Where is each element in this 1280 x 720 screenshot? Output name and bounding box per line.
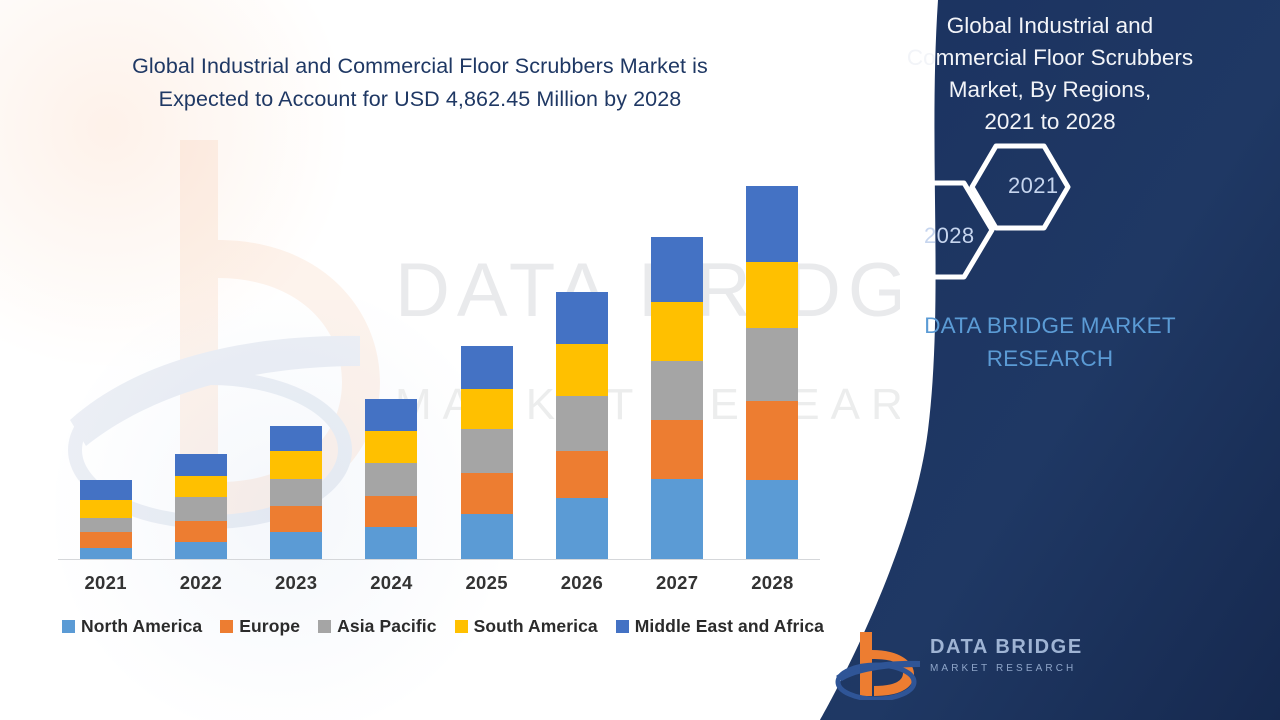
legend-label: Europe — [239, 616, 300, 637]
legend-label: Asia Pacific — [337, 616, 436, 637]
brand-name-line1: DATA BRIDGE MARKET — [850, 310, 1250, 343]
legend-swatch-icon — [62, 620, 75, 633]
bar-segment[interactable] — [175, 497, 227, 521]
x-axis-label-2022: 2022 — [153, 572, 249, 594]
x-axis-label-2028: 2028 — [724, 572, 820, 594]
bar-segment[interactable] — [365, 431, 417, 463]
bar-segment[interactable] — [80, 548, 132, 559]
x-axis-label-2023: 2023 — [248, 572, 344, 594]
legend-item-europe[interactable]: Europe — [220, 616, 300, 637]
x-axis-line — [58, 559, 820, 560]
bar-segment[interactable] — [651, 361, 703, 420]
x-axis-label-2021: 2021 — [58, 572, 154, 594]
legend-swatch-icon — [220, 620, 233, 633]
company-logo: DATA BRIDGE MARKET RESEARCH — [834, 628, 1064, 704]
year-hexagons: 2021 2028 — [860, 135, 1120, 285]
bar-segment[interactable] — [556, 451, 608, 498]
bar-segment[interactable] — [746, 328, 798, 401]
legend-label: North America — [81, 616, 202, 637]
bar-column-2026[interactable] — [556, 292, 608, 559]
x-axis-label-2024: 2024 — [343, 572, 439, 594]
legend-item-asia-pacific[interactable]: Asia Pacific — [318, 616, 436, 637]
bar-segment[interactable] — [365, 527, 417, 559]
chart-title-line1: Global Industrial and Commercial Floor S… — [70, 50, 770, 83]
bar-column-2021[interactable] — [80, 480, 132, 559]
panel-title: Global Industrial and Commercial Floor S… — [840, 10, 1260, 138]
data-bridge-logo-icon — [834, 628, 926, 700]
bar-segment[interactable] — [461, 389, 513, 429]
bar-segment[interactable] — [365, 463, 417, 496]
bar-segment[interactable] — [80, 532, 132, 548]
legend-label: South America — [474, 616, 598, 637]
panel-title-line2: Commercial Floor Scrubbers — [840, 42, 1260, 74]
bar-column-2028[interactable] — [746, 186, 798, 559]
chart-title-line2: Expected to Account for USD 4,862.45 Mil… — [70, 83, 770, 116]
bar-segment[interactable] — [556, 498, 608, 559]
legend-swatch-icon — [616, 620, 629, 633]
bar-segment[interactable] — [270, 532, 322, 559]
logo-wordmark: DATA BRIDGE MARKET RESEARCH — [930, 636, 1070, 674]
panel-title-line3: Market, By Regions, — [840, 74, 1260, 106]
bar-segment[interactable] — [461, 429, 513, 473]
bar-segment[interactable] — [175, 454, 227, 476]
bar-segment[interactable] — [651, 237, 703, 302]
bar-column-2024[interactable] — [365, 399, 417, 559]
bar-segment[interactable] — [270, 426, 322, 451]
chart-legend: North AmericaEuropeAsia PacificSouth Ame… — [58, 616, 828, 637]
legend-item-north-america[interactable]: North America — [62, 616, 202, 637]
bar-segment[interactable] — [365, 496, 417, 527]
bar-column-2023[interactable] — [270, 426, 322, 559]
legend-item-south-america[interactable]: South America — [455, 616, 598, 637]
x-axis-label-2027: 2027 — [629, 572, 725, 594]
panel-title-line1: Global Industrial and — [840, 10, 1260, 42]
bar-segment[interactable] — [80, 518, 132, 532]
bar-segment[interactable] — [270, 479, 322, 506]
bar-segment[interactable] — [651, 302, 703, 361]
chart-plot-area — [58, 170, 820, 560]
legend-label: Middle East and Africa — [635, 616, 824, 637]
bar-segment[interactable] — [461, 473, 513, 514]
bar-column-2027[interactable] — [651, 237, 703, 559]
bar-segment[interactable] — [175, 521, 227, 542]
bar-segment[interactable] — [556, 292, 608, 344]
bar-segment[interactable] — [461, 346, 513, 389]
legend-swatch-icon — [455, 620, 468, 633]
chart-panel: DATA BRIDGE MARKET RESEARCH Global Indus… — [0, 0, 900, 720]
brand-name-text: DATA BRIDGE MARKET RESEARCH — [850, 310, 1250, 375]
chart-title: Global Industrial and Commercial Floor S… — [70, 50, 770, 117]
panel-title-line4: 2021 to 2028 — [840, 106, 1260, 138]
infographic-slide: DATA BRIDGE MARKET RESEARCH Global Indus… — [0, 0, 1280, 720]
bar-segment[interactable] — [651, 420, 703, 479]
logo-wordmark-line1: DATA BRIDGE — [930, 636, 1070, 658]
bar-segment[interactable] — [746, 480, 798, 559]
bar-segment[interactable] — [746, 262, 798, 328]
hexagon-outline-icon — [860, 135, 1120, 285]
bar-segment[interactable] — [651, 479, 703, 559]
bar-segment[interactable] — [556, 396, 608, 451]
bar-segment[interactable] — [270, 506, 322, 532]
bar-column-2025[interactable] — [461, 346, 513, 559]
logo-wordmark-line2: MARKET RESEARCH — [930, 663, 1070, 674]
x-axis-label-2025: 2025 — [439, 572, 535, 594]
branding-panel: Global Industrial and Commercial Floor S… — [820, 0, 1280, 720]
bar-segment[interactable] — [461, 514, 513, 559]
x-axis-label-2026: 2026 — [534, 572, 630, 594]
bar-segment[interactable] — [746, 186, 798, 262]
bar-segment[interactable] — [175, 542, 227, 559]
hexagon-label-2028: 2028 — [924, 223, 975, 249]
bar-segment[interactable] — [556, 344, 608, 396]
legend-swatch-icon — [318, 620, 331, 633]
bar-column-2022[interactable] — [175, 454, 227, 559]
bar-segment[interactable] — [746, 401, 798, 480]
hexagon-label-2021: 2021 — [1008, 173, 1059, 199]
bar-segment[interactable] — [365, 399, 417, 431]
bar-segment[interactable] — [270, 451, 322, 479]
x-axis-tick-labels: 20212022202320242025202620272028 — [58, 572, 820, 602]
bar-segment[interactable] — [175, 476, 227, 497]
legend-item-middle-east-and-africa[interactable]: Middle East and Africa — [616, 616, 824, 637]
bar-segment[interactable] — [80, 480, 132, 500]
bar-segment[interactable] — [80, 500, 132, 518]
brand-name-line2: RESEARCH — [850, 343, 1250, 376]
